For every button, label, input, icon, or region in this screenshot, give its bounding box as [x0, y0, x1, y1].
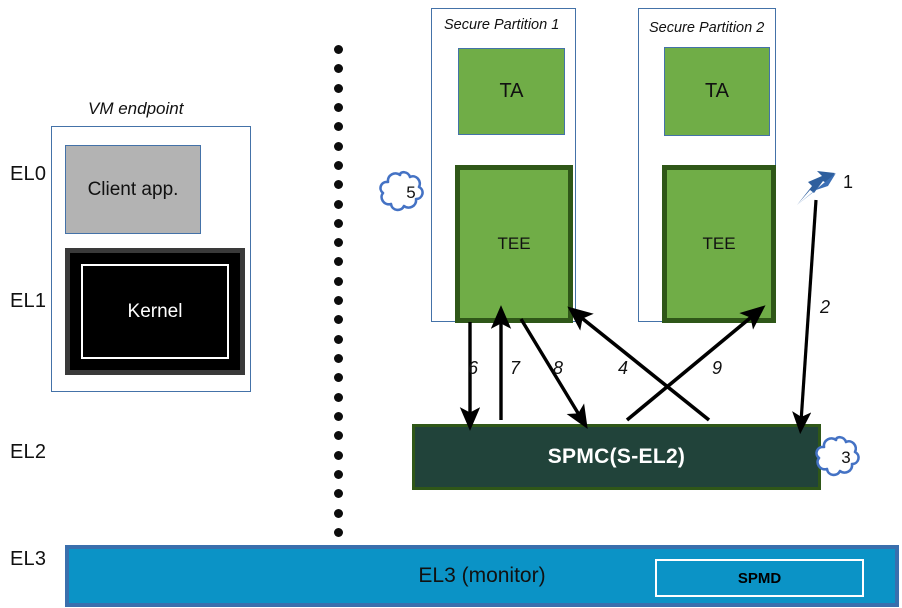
secure-partition-2-title: Secure Partition 2: [649, 20, 764, 36]
client-app-box: Client app.: [65, 145, 201, 234]
secure-partition-2-tee: TEE: [662, 165, 776, 323]
arrow-label-4: 4: [618, 358, 628, 379]
vm-endpoint-title: VM endpoint: [88, 99, 183, 119]
callout-3-label: 3: [825, 435, 867, 481]
lightning-bolt-icon: [797, 171, 836, 205]
secure-partition-2-ta: TA: [664, 47, 770, 136]
arrow-label-1: 1: [843, 172, 853, 193]
kernel-label: Kernel: [81, 264, 229, 359]
arrow-4: [578, 315, 709, 420]
callout-3: 3: [825, 435, 867, 481]
el3-monitor-bar: EL3 (monitor) SPMD: [65, 545, 899, 607]
arrow-label-7: 7: [510, 358, 520, 379]
diagram-canvas: EL0 EL1 EL2 EL3 VM endpoint Client app. …: [0, 0, 902, 608]
arrow-label-6: 6: [468, 358, 478, 379]
arrow-label-2: 2: [820, 297, 830, 318]
dotted-divider-icon: [333, 45, 343, 537]
arrow-2: [801, 200, 816, 422]
arrow-label-8: 8: [553, 358, 563, 379]
secure-partition-1-ta: TA: [458, 48, 565, 135]
callout-5-label: 5: [390, 170, 432, 216]
secure-partition-1-tee: TEE: [455, 165, 573, 323]
callout-5: 5: [390, 170, 432, 216]
arrow-8: [521, 319, 581, 418]
spmd-box: SPMD: [655, 559, 864, 597]
level-label-el0: EL0: [10, 163, 46, 186]
spmc-box: SPMC(S-EL2): [412, 424, 821, 490]
level-label-el1: EL1: [10, 290, 46, 313]
arrow-9: [627, 314, 755, 420]
level-label-el3: EL3: [10, 548, 46, 571]
kernel-box: Kernel: [65, 248, 245, 375]
level-label-el2: EL2: [10, 441, 46, 464]
secure-partition-1-title: Secure Partition 1: [444, 17, 559, 33]
arrow-label-9: 9: [712, 358, 722, 379]
